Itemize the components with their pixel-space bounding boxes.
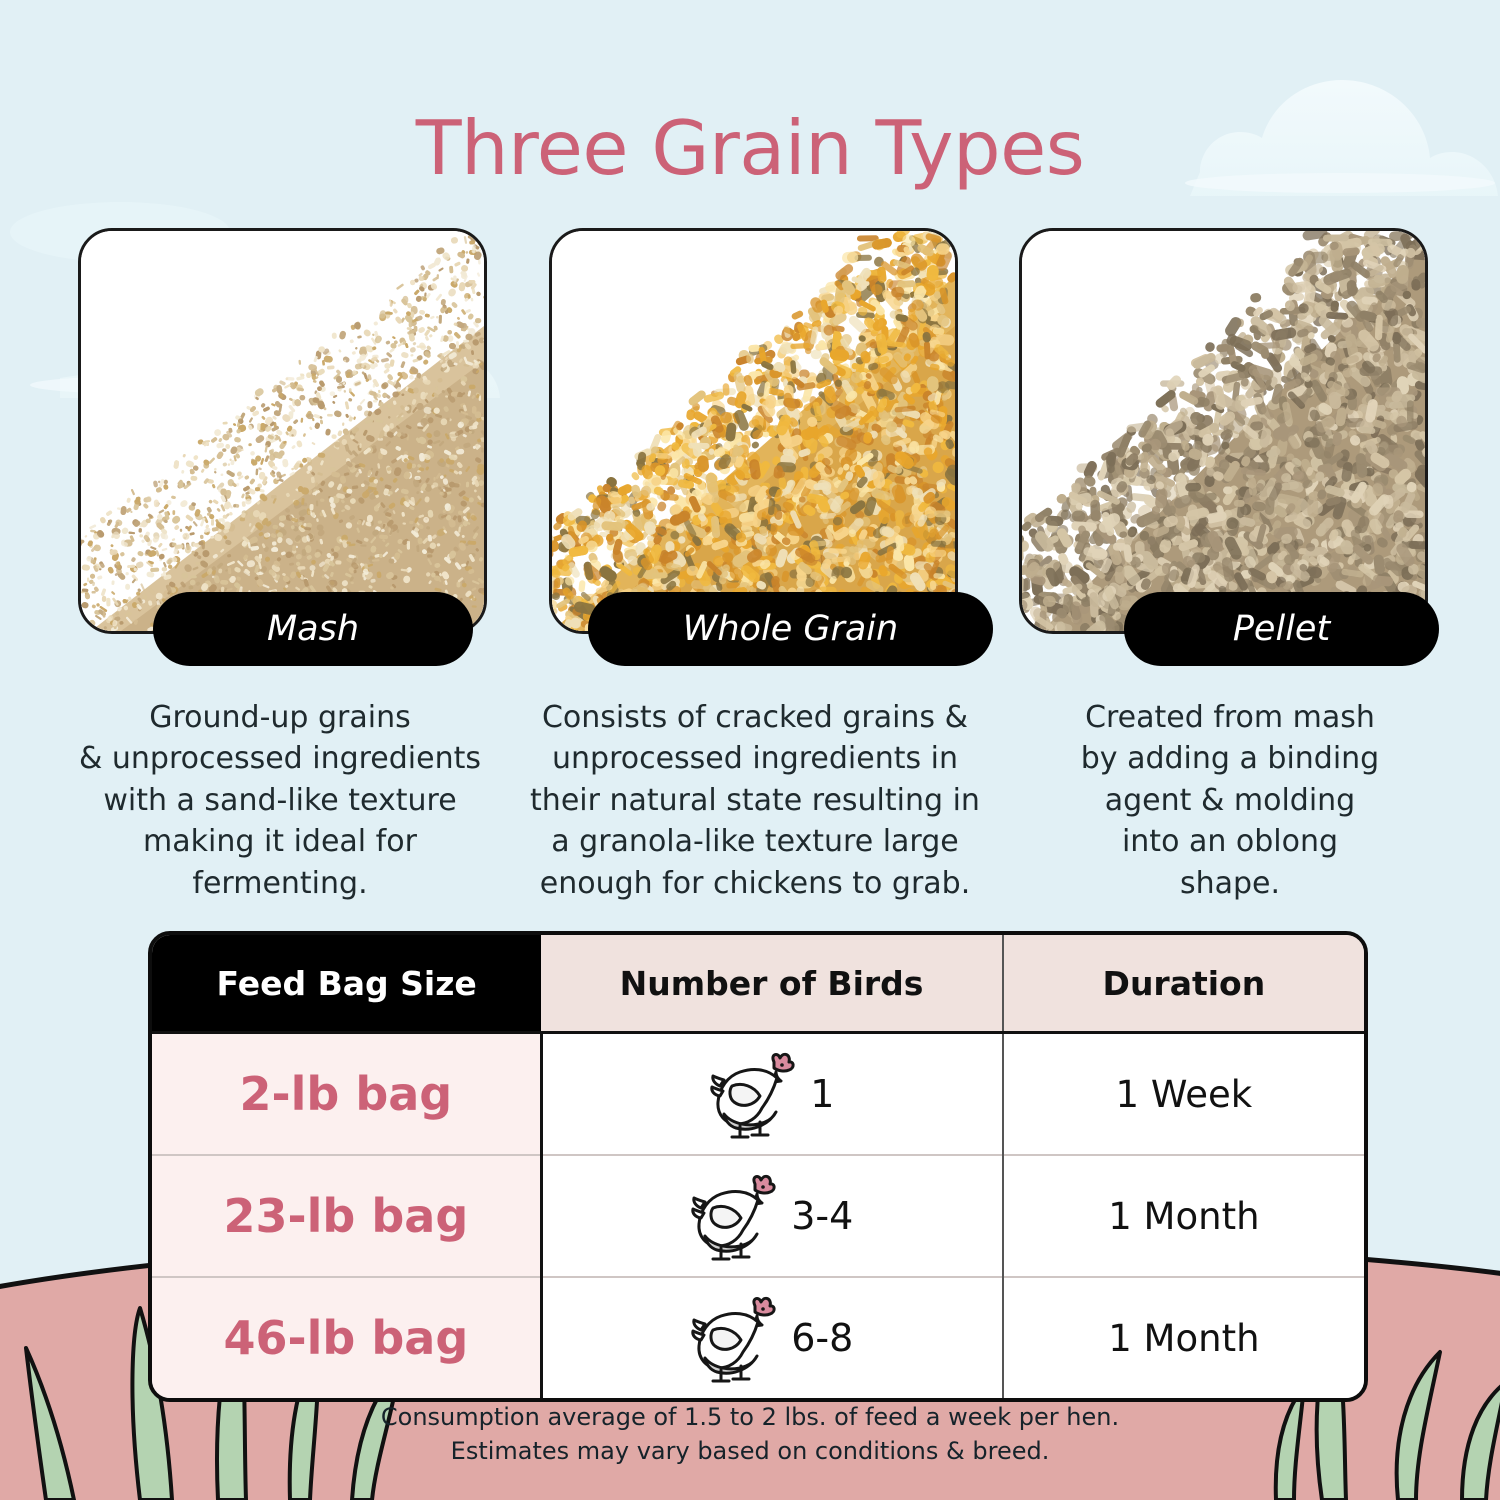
grain-label-whole-grain: Whole Grain: [588, 592, 993, 666]
cell-bag-size: 2-lb bag: [152, 1033, 541, 1156]
grain-label-text: Pellet: [1233, 609, 1330, 649]
cell-number-of-birds: 6-8: [541, 1277, 1003, 1398]
bird-count-text: 3-4: [791, 1194, 853, 1238]
page-title: Three Grain Types: [0, 104, 1500, 192]
table-header-row: Feed Bag Size Number of Birds Duration: [152, 935, 1364, 1033]
grain-label-mash: Mash: [153, 592, 473, 666]
grain-description-pellet: Created from mash by adding a binding ag…: [1035, 697, 1425, 904]
infographic-canvas: Three Grain Types: [0, 0, 1500, 1500]
mash-feed-photo: [81, 231, 484, 631]
bird-count-text: 1: [810, 1072, 834, 1116]
grain-card-mash[interactable]: [78, 228, 487, 634]
grain-card-whole-grain[interactable]: [549, 228, 958, 634]
table-row: 46-lb bag6-81 Month: [152, 1277, 1364, 1398]
whole-grain-feed-photo: [552, 231, 955, 631]
table-row: 23-lb bag3-41 Month: [152, 1155, 1364, 1277]
cell-bag-size: 23-lb bag: [152, 1155, 541, 1277]
header-duration: Duration: [1003, 935, 1364, 1033]
chicken-icon: [691, 1170, 777, 1262]
cell-duration: 1 Week: [1003, 1033, 1364, 1156]
cell-bag-size: 46-lb bag: [152, 1277, 541, 1398]
table-body: 2-lb bag11 Week23-lb bag3-41 Month46-lb …: [152, 1033, 1364, 1399]
grain-label-text: Whole Grain: [683, 609, 898, 649]
grain-description-whole-grain: Consists of cracked grains & unprocessed…: [510, 697, 1000, 904]
cell-duration: 1 Month: [1003, 1277, 1364, 1398]
bird-count-text: 6-8: [791, 1316, 853, 1360]
grain-label-pellet: Pellet: [1124, 592, 1439, 666]
grain-description-mash: Ground-up grains & unprocessed ingredien…: [70, 697, 490, 904]
header-number-of-birds: Number of Birds: [541, 935, 1003, 1033]
grain-label-text: Mash: [267, 609, 359, 649]
consumption-footnote: Consumption average of 1.5 to 2 lbs. of …: [0, 1400, 1500, 1468]
cell-duration: 1 Month: [1003, 1155, 1364, 1277]
cell-number-of-birds: 3-4: [541, 1155, 1003, 1277]
feed-bag-table: Feed Bag Size Number of Birds Duration 2…: [148, 931, 1368, 1402]
chicken-icon: [691, 1292, 777, 1384]
grain-card-pellet[interactable]: [1019, 228, 1428, 634]
table-row: 2-lb bag11 Week: [152, 1033, 1364, 1156]
cell-number-of-birds: 1: [541, 1033, 1003, 1156]
pellet-feed-photo: [1022, 231, 1425, 631]
chicken-icon: [710, 1048, 796, 1140]
header-feed-bag-size: Feed Bag Size: [152, 935, 541, 1033]
